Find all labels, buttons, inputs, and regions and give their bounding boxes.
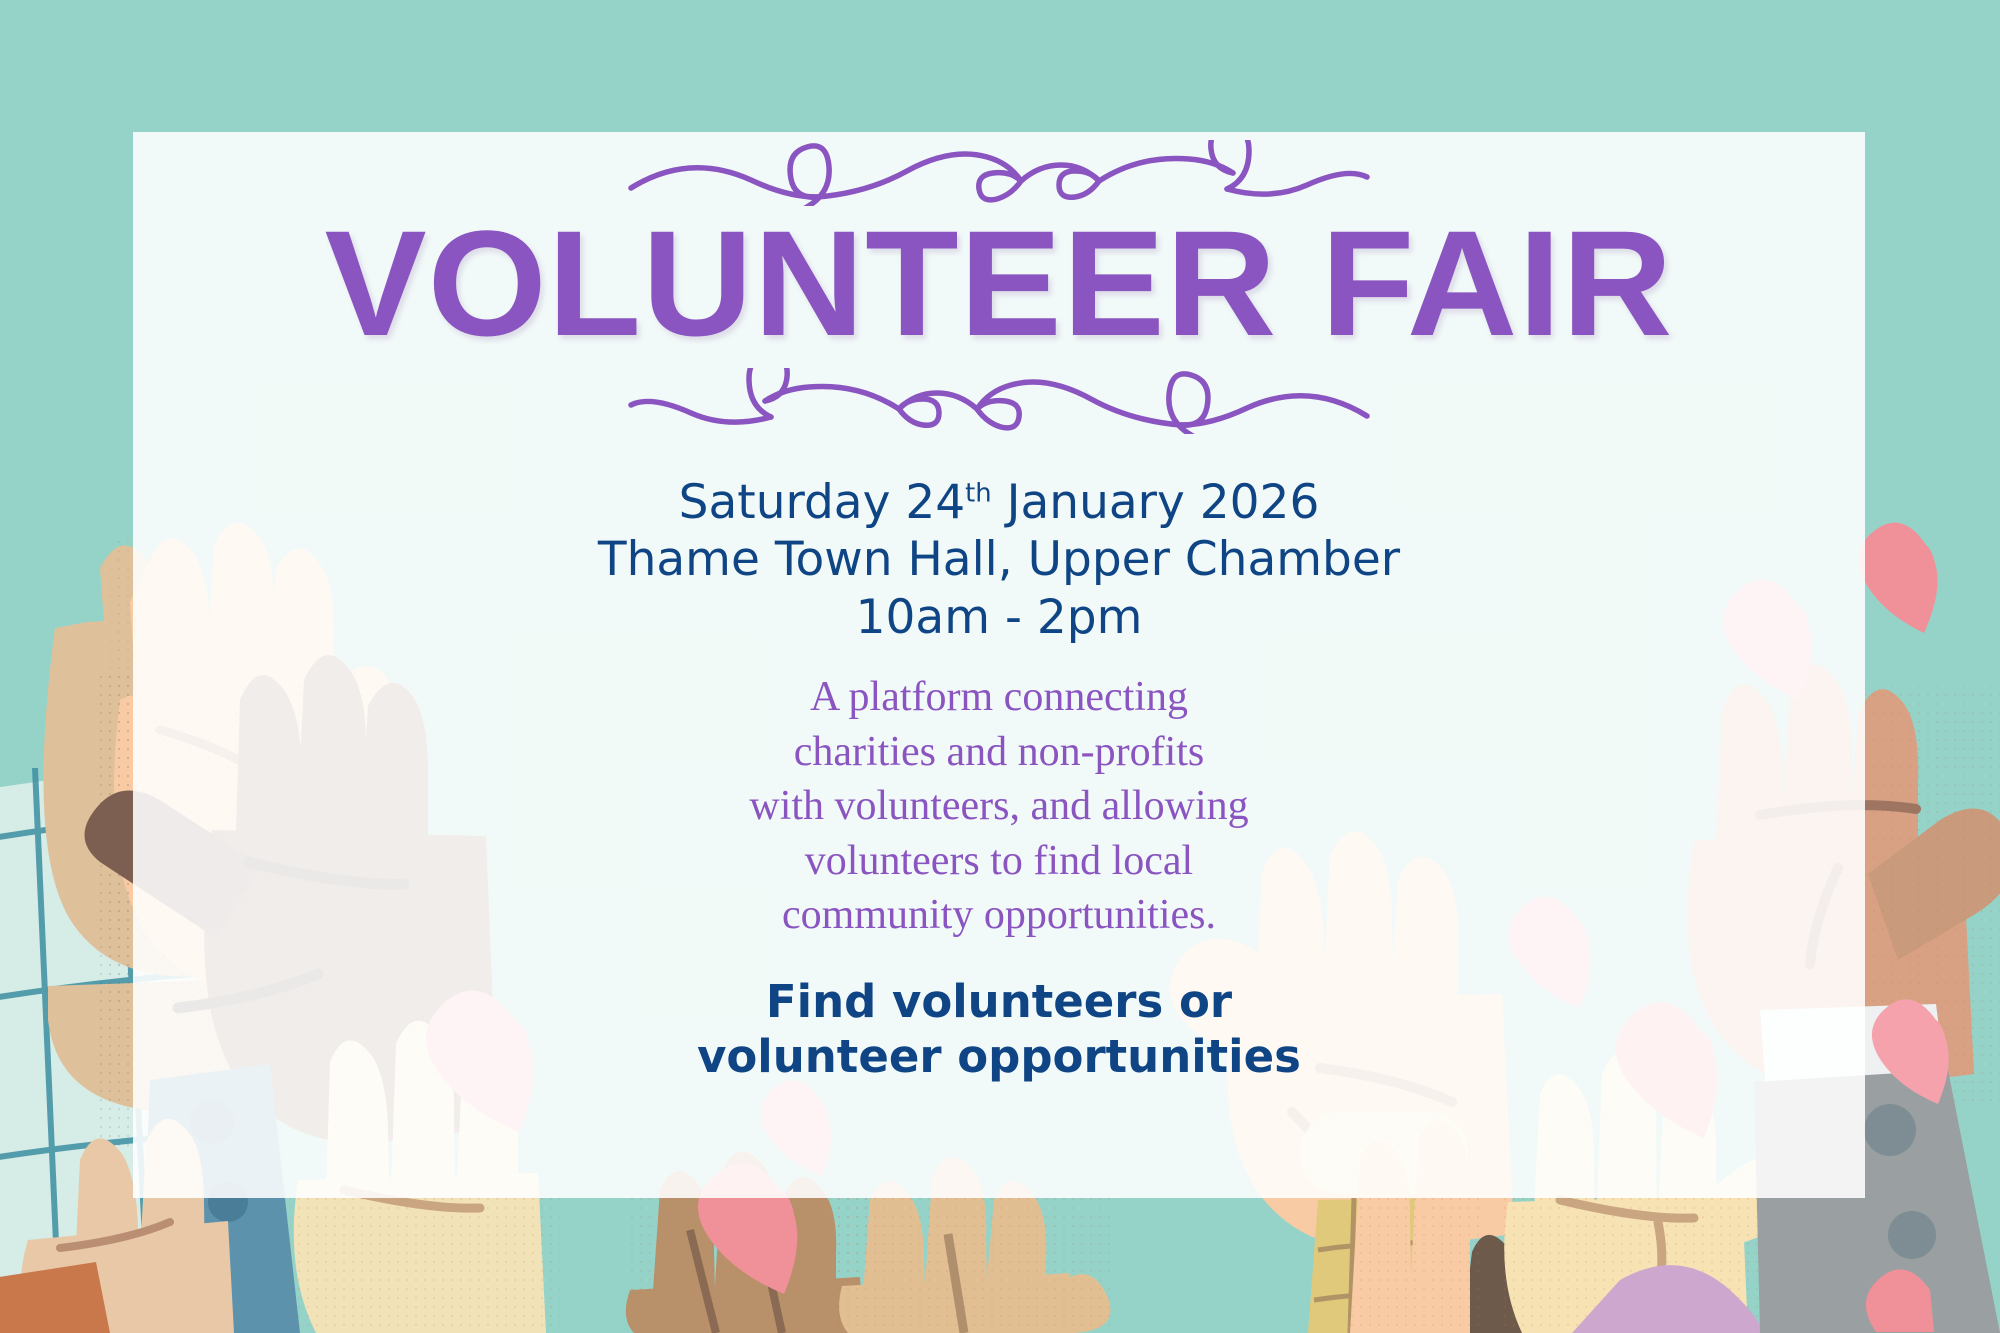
poster-content: VOLUNTEER FAIR Saturday 24th January 202… xyxy=(133,132,1865,1198)
event-details: Saturday 24th January 2026 Thame Town Ha… xyxy=(133,474,1865,646)
page-title: VOLUNTEER FAIR xyxy=(116,206,1883,362)
event-date-text: Saturday 24 xyxy=(679,475,966,530)
description-line: volunteers to find local xyxy=(133,834,1865,889)
event-date-month-year: January 2026 xyxy=(992,475,1320,530)
description-line: with volunteers, and allowing xyxy=(133,779,1865,834)
event-date-line: Saturday 24th January 2026 xyxy=(133,474,1865,531)
event-venue-line: Thame Town Hall, Upper Chamber xyxy=(133,531,1865,588)
event-date-ordinal: th xyxy=(965,478,992,508)
description-line: community opportunities. xyxy=(133,888,1865,943)
description-line: charities and non-profits xyxy=(133,725,1865,780)
event-description: A platform connecting charities and non-… xyxy=(133,670,1865,943)
call-to-action-line: Find volunteers or xyxy=(133,975,1865,1030)
swirl-divider-top-icon xyxy=(619,140,1379,206)
event-time-line: 10am - 2pm xyxy=(133,589,1865,646)
volunteer-fair-poster: VOLUNTEER FAIR Saturday 24th January 202… xyxy=(0,0,2000,1333)
call-to-action-line: volunteer opportunities xyxy=(133,1030,1865,1085)
call-to-action: Find volunteers or volunteer opportuniti… xyxy=(133,975,1865,1085)
swirl-divider-bottom-icon xyxy=(619,368,1379,434)
description-line: A platform connecting xyxy=(133,670,1865,725)
